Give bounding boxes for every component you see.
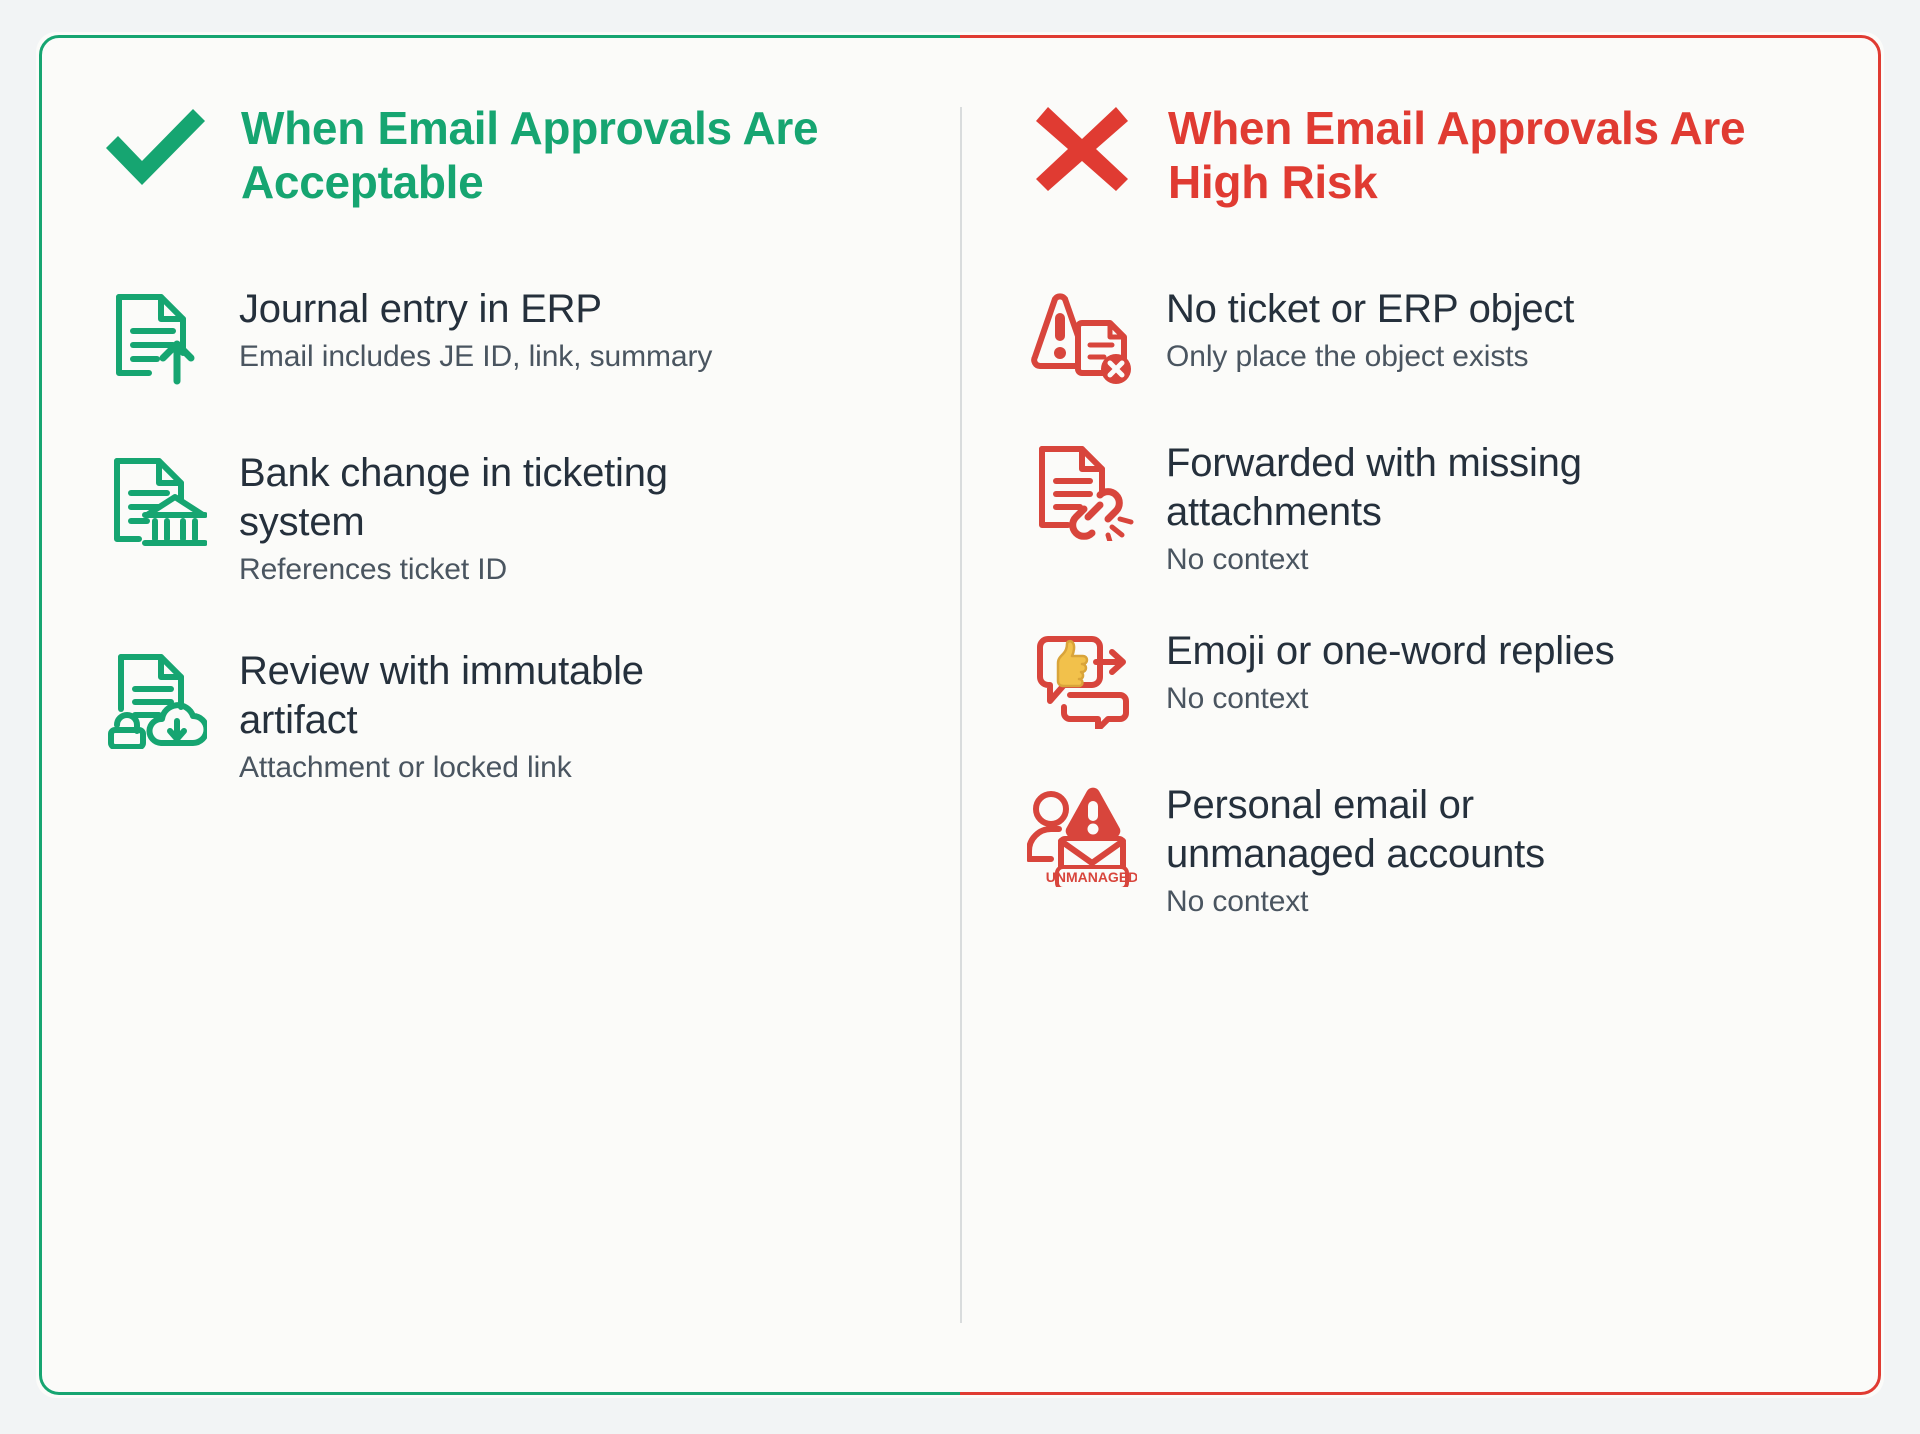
list-item-text: Review with immutable artifact Attachmen… xyxy=(239,647,930,787)
checkmark-icon xyxy=(97,95,213,195)
list-item-title: Journal entry in ERP xyxy=(239,285,759,334)
list-item-subtitle: References ticket ID xyxy=(239,551,930,589)
person-warning-envelope-icon: UNMANAGED xyxy=(1024,781,1140,887)
list-item-text: No ticket or ERP object Only place the o… xyxy=(1166,285,1841,376)
list-item: Journal entry in ERP Email includes JE I… xyxy=(97,285,930,391)
list-item: Review with immutable artifact Attachmen… xyxy=(97,647,930,787)
list-item-title: Personal email or unmanaged accounts xyxy=(1166,781,1686,879)
unmanaged-badge-label: UNMANAGED xyxy=(1046,869,1137,885)
list-item-subtitle: Attachment or locked link xyxy=(239,749,930,787)
list-item-subtitle: No context xyxy=(1166,883,1841,921)
high-risk-title: When Email Approvals Are High Risk xyxy=(1168,95,1841,210)
list-item-text: Emoji or one-word replies No context xyxy=(1166,627,1841,718)
list-item-text: Journal entry in ERP Email includes JE I… xyxy=(239,285,930,376)
high-risk-column: When Email Approvals Are High Risk xyxy=(960,35,1881,1395)
list-item-subtitle: No context xyxy=(1166,541,1841,579)
chat-thumbsup-reply-icon xyxy=(1024,627,1140,733)
list-item-text: Personal email or unmanaged accounts No … xyxy=(1166,781,1841,921)
list-item-text: Bank change in ticketing system Referenc… xyxy=(239,449,930,589)
list-item-subtitle: No context xyxy=(1166,680,1841,718)
list-item: Forwarded with missing attachments No co… xyxy=(1024,439,1841,579)
comparison-card: When Email Approvals Are Acceptable xyxy=(36,32,1884,1398)
list-item: Bank change in ticketing system Referenc… xyxy=(97,449,930,589)
list-item-title: No ticket or ERP object xyxy=(1166,285,1686,334)
list-item: UNMANAGED Personal email or unmanaged ac… xyxy=(1024,781,1841,921)
high-risk-heading: When Email Approvals Are High Risk xyxy=(1024,95,1841,225)
infographic-canvas: When Email Approvals Are Acceptable xyxy=(0,0,1920,1434)
document-broken-link-icon xyxy=(1024,439,1140,545)
document-upload-icon xyxy=(97,285,213,391)
list-item: No ticket or ERP object Only place the o… xyxy=(1024,285,1841,391)
list-item-title: Emoji or one-word replies xyxy=(1166,627,1686,676)
list-item-title: Forwarded with missing attachments xyxy=(1166,439,1686,537)
list-item: Emoji or one-word replies No context xyxy=(1024,627,1841,733)
list-item-title: Review with immutable artifact xyxy=(239,647,759,745)
acceptable-heading: When Email Approvals Are Acceptable xyxy=(97,95,930,225)
list-item-title: Bank change in ticketing system xyxy=(239,449,759,547)
cross-icon xyxy=(1024,95,1140,195)
acceptable-title: When Email Approvals Are Acceptable xyxy=(241,95,930,210)
list-item-subtitle: Only place the object exists xyxy=(1166,338,1841,376)
list-item-subtitle: Email includes JE ID, link, summary xyxy=(239,338,930,376)
document-bank-icon xyxy=(97,449,213,555)
acceptable-column: When Email Approvals Are Acceptable xyxy=(39,35,960,1395)
document-lock-cloud-icon xyxy=(97,647,213,753)
warning-document-error-icon xyxy=(1024,285,1140,391)
list-item-text: Forwarded with missing attachments No co… xyxy=(1166,439,1841,579)
